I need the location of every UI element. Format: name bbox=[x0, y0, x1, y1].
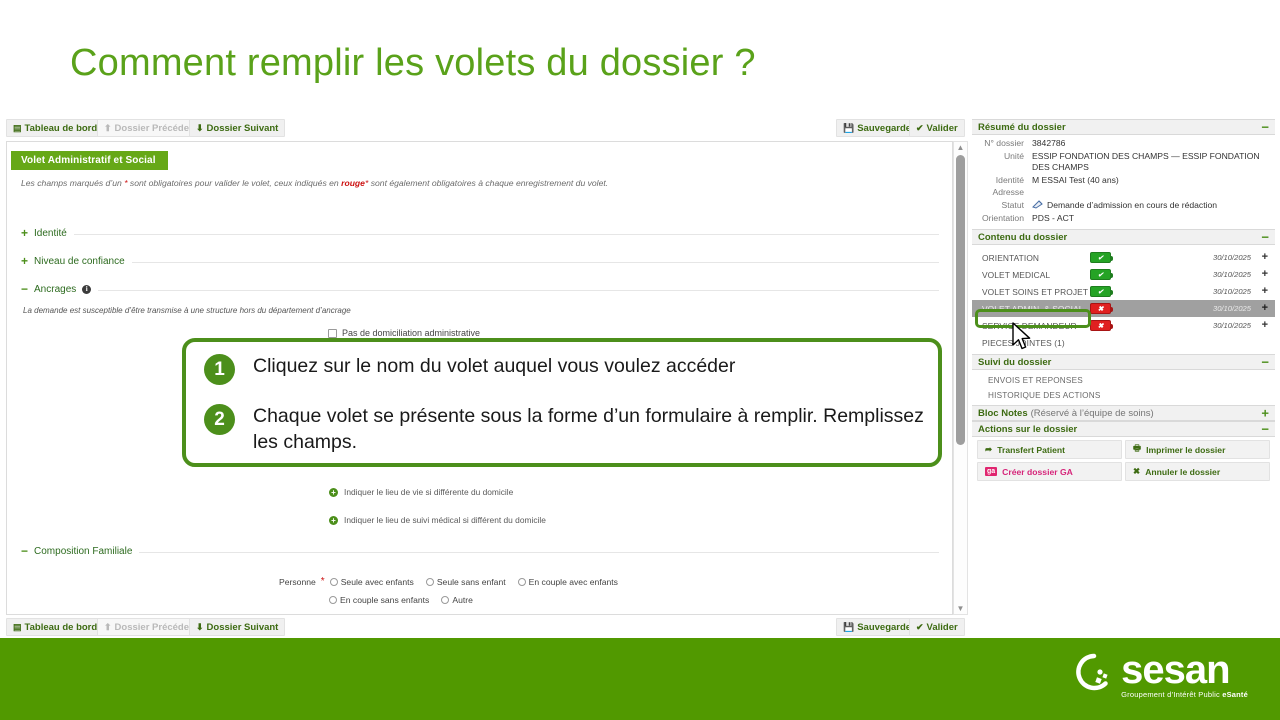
collapse-toggle-icon[interactable]: − bbox=[1261, 356, 1269, 369]
scrollbar-thumb[interactable] bbox=[956, 155, 965, 445]
resume-value: PDS - ACT bbox=[1032, 213, 1275, 225]
dashboard-label-bottom: Tableau de bord bbox=[25, 622, 98, 633]
imprimer-dossier-label: Imprimer le dossier bbox=[1146, 445, 1225, 455]
transfert-patient-button[interactable]: ➦ Transfert Patient bbox=[977, 440, 1122, 459]
save-label: Sauvegarder bbox=[857, 123, 915, 134]
arrow-down-icon: ⬇ bbox=[196, 623, 204, 632]
required-fields-notice: Les champs marqués d’un * sont obligatoi… bbox=[21, 178, 936, 188]
resume-row: N° dossier 3842786 bbox=[972, 138, 1275, 150]
status-ok-icon: ✔ bbox=[1090, 286, 1111, 297]
section-ancrages-label: Ancrages bbox=[34, 284, 76, 295]
sesan-tagline: Groupement d’Intérêt Public eSanté bbox=[1121, 690, 1248, 699]
active-volet-tab[interactable]: Volet Administratif et Social bbox=[11, 151, 168, 170]
bullet-lieu-suivi-medical-label: Indiquer le lieu de suivi médical si dif… bbox=[344, 515, 546, 525]
dashboard-label: Tableau de bord bbox=[25, 123, 98, 134]
creer-dossier-ga-button[interactable]: ga Créer dossier GA bbox=[977, 462, 1122, 481]
section-ancrages-header[interactable]: − Ancrages i bbox=[21, 283, 98, 295]
section-composition-familiale-label: Composition Familiale bbox=[34, 546, 132, 557]
suivi-item-envois[interactable]: ENVOIS ET REPONSES bbox=[972, 373, 1275, 388]
right-sidebar: Résumé du dossier − N° dossier 3842786 U… bbox=[972, 119, 1275, 485]
personne-option-2[interactable]: En couple avec enfants bbox=[518, 577, 618, 587]
scroll-down-arrow-icon[interactable]: ▼ bbox=[954, 603, 967, 614]
contenu-section-header[interactable]: Contenu du dossier − bbox=[972, 229, 1275, 245]
volet-row-orientation[interactable]: ORIENTATION ✔ 30/10/2025 + bbox=[972, 249, 1275, 266]
volet-expand-icon[interactable]: + bbox=[1262, 286, 1268, 297]
validate-button[interactable]: ✔ Valider bbox=[909, 119, 965, 137]
callout-step-2: 2 Chaque volet se présente sous la forme… bbox=[204, 404, 933, 455]
resume-section-header[interactable]: Résumé du dossier − bbox=[972, 119, 1275, 135]
divider bbox=[21, 290, 939, 291]
personne-radio-row-2: En couple sans enfants Autre bbox=[329, 595, 480, 605]
info-icon[interactable]: i bbox=[82, 285, 91, 294]
step-1-text: Cliquez sur le nom du volet auquel vous … bbox=[253, 354, 735, 380]
plus-icon: + bbox=[21, 227, 28, 239]
bullet-lieu-de-vie-label: Indiquer le lieu de vie si différente du… bbox=[344, 487, 513, 497]
personne-radio-row-1: Personne * Seule avec enfants Seule sans… bbox=[279, 576, 625, 587]
radio-icon[interactable] bbox=[518, 578, 526, 586]
volet-date: 30/10/2025 bbox=[1213, 287, 1251, 296]
save-label-bottom: Sauvegarder bbox=[857, 622, 915, 633]
resume-value: M ESSAI Test (40 ans) bbox=[1032, 175, 1275, 187]
plus-circle-icon: + bbox=[329, 516, 338, 525]
resume-key: Identité bbox=[972, 175, 1032, 187]
sesan-mark-icon bbox=[1074, 652, 1114, 692]
section-identite-header[interactable]: + Identité bbox=[21, 227, 74, 239]
highlight-ring-volet-admin-social bbox=[975, 309, 1091, 328]
minus-icon: − bbox=[21, 545, 28, 557]
arrow-down-icon: ⬇ bbox=[196, 124, 204, 133]
validate-label-bottom: Valider bbox=[927, 622, 958, 633]
volet-row-soins-projet[interactable]: VOLET SOINS ET PROJET ✔ 30/10/2025 + bbox=[972, 283, 1275, 300]
annuler-dossier-label: Annuler le dossier bbox=[1145, 467, 1220, 477]
personne-label: Personne bbox=[279, 577, 316, 587]
resume-row: Unité ESSIP FONDATION DES CHAMPS — ESSIP… bbox=[972, 151, 1275, 174]
volet-row-medical[interactable]: VOLET MEDICAL ✔ 30/10/2025 + bbox=[972, 266, 1275, 283]
resume-row: Identité M ESSAI Test (40 ans) bbox=[972, 175, 1275, 187]
personne-option-0[interactable]: Seule avec enfants bbox=[330, 577, 414, 587]
personne-option-2-label: En couple avec enfants bbox=[529, 577, 618, 587]
resume-key: N° dossier bbox=[972, 138, 1032, 150]
divider bbox=[21, 262, 939, 263]
resume-row: Orientation PDS - ACT bbox=[972, 213, 1275, 225]
checkbox-icon[interactable] bbox=[328, 329, 337, 338]
step-number-badge: 2 bbox=[204, 404, 235, 435]
printer-icon: 🖶 bbox=[1133, 443, 1141, 457]
resume-value: ESSIP FONDATION DES CHAMPS — ESSIP FONDA… bbox=[1032, 151, 1275, 174]
radio-icon[interactable] bbox=[441, 596, 449, 604]
actions-section-header[interactable]: Actions sur le dossier − bbox=[972, 421, 1275, 437]
annuler-dossier-button[interactable]: ✖ Annuler le dossier bbox=[1125, 462, 1270, 481]
previous-record-label-bottom: Dossier Précédent bbox=[115, 622, 198, 633]
next-record-label: Dossier Suivant bbox=[207, 123, 279, 134]
volet-date: 30/10/2025 bbox=[1213, 304, 1251, 313]
transfert-patient-label: Transfert Patient bbox=[997, 445, 1065, 455]
collapse-toggle-icon[interactable]: − bbox=[1261, 121, 1269, 134]
validate-label: Valider bbox=[927, 123, 958, 134]
section-identite-label: Identité bbox=[34, 228, 67, 239]
bottom-toolbar: ▤ Tableau de bord ⬆ Dossier Précédent ⬇ … bbox=[0, 618, 968, 640]
status-ok-icon: ✔ bbox=[1090, 252, 1111, 263]
step-2-text: Chaque volet se présente sous la forme d… bbox=[253, 404, 933, 455]
expand-toggle-icon[interactable]: + bbox=[1261, 407, 1269, 420]
mouse-cursor-icon bbox=[1011, 322, 1033, 357]
grid-icon: ▤ bbox=[13, 124, 22, 133]
status-text: Demande d’admission en cours de rédactio… bbox=[1047, 200, 1217, 210]
cross-icon: ✖ bbox=[1133, 466, 1140, 477]
draft-icon bbox=[1032, 200, 1044, 209]
step-number-badge: 1 bbox=[204, 354, 235, 385]
volet-expand-icon[interactable]: + bbox=[1262, 252, 1268, 263]
actions-button-grid: ➦ Transfert Patient 🖶 Imprimer le dossie… bbox=[972, 437, 1275, 485]
volet-expand-icon[interactable]: + bbox=[1262, 303, 1268, 314]
divider bbox=[21, 234, 939, 235]
dashboard-button[interactable]: ▤ Tableau de bord bbox=[6, 119, 104, 137]
section-niveau-confiance-header[interactable]: + Niveau de confiance bbox=[21, 255, 132, 267]
next-record-button-bottom[interactable]: ⬇ Dossier Suivant bbox=[189, 618, 285, 636]
personne-option-3-label: En couple sans enfants bbox=[340, 595, 429, 605]
status-incomplete-icon: ✖ bbox=[1090, 320, 1111, 331]
volet-date: 30/10/2025 bbox=[1213, 321, 1251, 330]
resume-value: 3842786 bbox=[1032, 138, 1275, 150]
personne-option-1[interactable]: Seule sans enfant bbox=[426, 577, 506, 587]
form-scrollbar[interactable]: ▲ ▼ bbox=[953, 141, 968, 615]
resume-row: Adresse bbox=[972, 187, 1275, 199]
page-title: Comment remplir les volets du dossier ? bbox=[70, 42, 756, 85]
bullet-lieu-de-vie[interactable]: + Indiquer le lieu de vie si différente … bbox=[329, 487, 513, 497]
volet-status-badge: ✖ bbox=[1090, 303, 1114, 314]
volet-expand-icon[interactable]: + bbox=[1262, 320, 1268, 331]
personne-option-3[interactable]: En couple sans enfants bbox=[329, 595, 429, 605]
grid-icon: ▤ bbox=[13, 623, 22, 632]
radio-icon[interactable] bbox=[329, 596, 337, 604]
check-icon: ✔ bbox=[916, 623, 924, 632]
notice-red-word: rouge bbox=[341, 178, 365, 188]
personne-option-1-label: Seule sans enfant bbox=[437, 577, 506, 587]
required-asterisk-icon: * bbox=[321, 576, 325, 587]
minus-icon: − bbox=[21, 283, 28, 295]
section-niveau-confiance[interactable]: + Niveau de confiance bbox=[21, 262, 939, 263]
section-identite[interactable]: + Identité bbox=[21, 234, 939, 235]
arrow-up-icon: ⬆ bbox=[104, 124, 112, 133]
plus-circle-icon: + bbox=[329, 488, 338, 497]
volet-date: 30/10/2025 bbox=[1213, 253, 1251, 262]
floppy-disk-icon: 💾 bbox=[843, 124, 854, 133]
personne-option-0-label: Seule avec enfants bbox=[341, 577, 414, 587]
creer-dossier-ga-label: Créer dossier GA bbox=[1002, 467, 1073, 477]
ancrage-note: La demande est susceptible d’être transm… bbox=[23, 306, 351, 315]
check-icon: ✔ bbox=[916, 124, 924, 133]
volet-status-badge: ✔ bbox=[1090, 286, 1114, 297]
resume-value-status: Demande d’admission en cours de rédactio… bbox=[1032, 200, 1275, 212]
section-niveau-confiance-label: Niveau de confiance bbox=[34, 256, 125, 267]
sesan-wordmark: sesan bbox=[1121, 652, 1248, 689]
top-toolbar: ▤ Tableau de bord ⬆ Dossier Précédent ⬇ … bbox=[0, 119, 968, 141]
radio-icon[interactable] bbox=[426, 578, 434, 586]
volet-name: VOLET SOINS ET PROJET bbox=[982, 287, 1090, 297]
volet-name: ORIENTATION bbox=[982, 253, 1090, 263]
no-domiciliation-label: Pas de domiciliation administrative bbox=[342, 328, 480, 338]
volet-status-badge: ✖ bbox=[1090, 320, 1114, 331]
arrow-up-icon: ⬆ bbox=[104, 623, 112, 632]
resume-key: Unité bbox=[972, 151, 1032, 174]
resume-value bbox=[1032, 187, 1275, 199]
collapse-toggle-icon[interactable]: − bbox=[1261, 231, 1269, 244]
dashboard-button-bottom[interactable]: ▤ Tableau de bord bbox=[6, 618, 104, 636]
collapse-toggle-icon[interactable]: − bbox=[1261, 423, 1269, 436]
volet-name: VOLET MEDICAL bbox=[982, 270, 1090, 280]
section-composition-familiale-header[interactable]: − Composition Familiale bbox=[21, 545, 139, 557]
bloc-notes-section-header[interactable]: Bloc Notes (Réservé à l’équipe de soins)… bbox=[972, 405, 1275, 421]
resume-key: Statut bbox=[972, 200, 1032, 212]
validate-button-bottom[interactable]: ✔ Valider bbox=[909, 618, 965, 636]
radio-icon[interactable] bbox=[330, 578, 338, 586]
status-ok-icon: ✔ bbox=[1090, 269, 1111, 280]
tagline-bold: eSanté bbox=[1222, 690, 1248, 699]
resume-key: Orientation bbox=[972, 213, 1032, 225]
personne-option-4-label: Autre bbox=[452, 595, 473, 605]
bloc-notes-title: Bloc Notes bbox=[978, 408, 1028, 419]
volet-status-badge: ✔ bbox=[1090, 269, 1114, 280]
slide-root: Comment remplir les volets du dossier ? … bbox=[0, 0, 1280, 720]
volet-date: 30/10/2025 bbox=[1213, 270, 1251, 279]
resume-section-body: N° dossier 3842786 Unité ESSIP FONDATION… bbox=[972, 135, 1275, 229]
plus-icon: + bbox=[21, 255, 28, 267]
imprimer-dossier-button[interactable]: 🖶 Imprimer le dossier bbox=[1125, 440, 1270, 459]
floppy-disk-icon: 💾 bbox=[843, 623, 854, 632]
previous-record-label: Dossier Précédent bbox=[115, 123, 198, 134]
resume-section-title: Résumé du dossier bbox=[978, 122, 1066, 133]
suivi-section-body: ENVOIS ET REPONSES HISTORIQUE DES ACTION… bbox=[972, 370, 1275, 405]
bullet-lieu-suivi-medical[interactable]: + Indiquer le lieu de suivi médical si d… bbox=[329, 515, 546, 525]
suivi-item-historique[interactable]: HISTORIQUE DES ACTIONS bbox=[972, 388, 1275, 403]
volet-expand-icon[interactable]: + bbox=[1262, 269, 1268, 280]
next-record-label-bottom: Dossier Suivant bbox=[207, 622, 279, 633]
notice-part-3: sont également obligatoires à chaque enr… bbox=[368, 178, 608, 188]
scroll-up-arrow-icon[interactable]: ▲ bbox=[954, 142, 967, 153]
resume-key: Adresse bbox=[972, 187, 1032, 199]
resume-row: Statut Demande d’admission en cours de r… bbox=[972, 200, 1275, 212]
contenu-section-title: Contenu du dossier bbox=[978, 232, 1067, 243]
suivi-section-title: Suivi du dossier bbox=[978, 357, 1051, 368]
arrow-right-icon: ➦ bbox=[985, 444, 992, 455]
instruction-callout: 1 Cliquez sur le nom du volet auquel vou… bbox=[182, 338, 942, 467]
section-ancrages[interactable]: − Ancrages i bbox=[21, 290, 939, 291]
actions-section-title: Actions sur le dossier bbox=[978, 424, 1077, 435]
tagline-plain: Groupement d’Intérêt Public bbox=[1121, 690, 1222, 699]
notice-part-1: Les champs marqués d’un bbox=[21, 178, 124, 188]
volet-status-badge: ✔ bbox=[1090, 252, 1114, 263]
bloc-notes-subtitle: (Réservé à l’équipe de soins) bbox=[1031, 408, 1154, 419]
notice-part-2: sont obligatoires pour valider le volet,… bbox=[128, 178, 342, 188]
callout-step-1: 1 Cliquez sur le nom du volet auquel vou… bbox=[204, 354, 735, 385]
no-domiciliation-checkbox-row[interactable]: Pas de domiciliation administrative bbox=[328, 328, 480, 338]
sesan-logo: sesan Groupement d’Intérêt Public eSanté bbox=[1074, 652, 1248, 699]
personne-option-4[interactable]: Autre bbox=[441, 595, 473, 605]
ga-chip-icon: ga bbox=[985, 467, 997, 476]
status-incomplete-icon: ✖ bbox=[1090, 303, 1111, 314]
next-record-button[interactable]: ⬇ Dossier Suivant bbox=[189, 119, 285, 137]
divider bbox=[21, 552, 939, 553]
section-composition-familiale[interactable]: − Composition Familiale bbox=[21, 552, 939, 553]
